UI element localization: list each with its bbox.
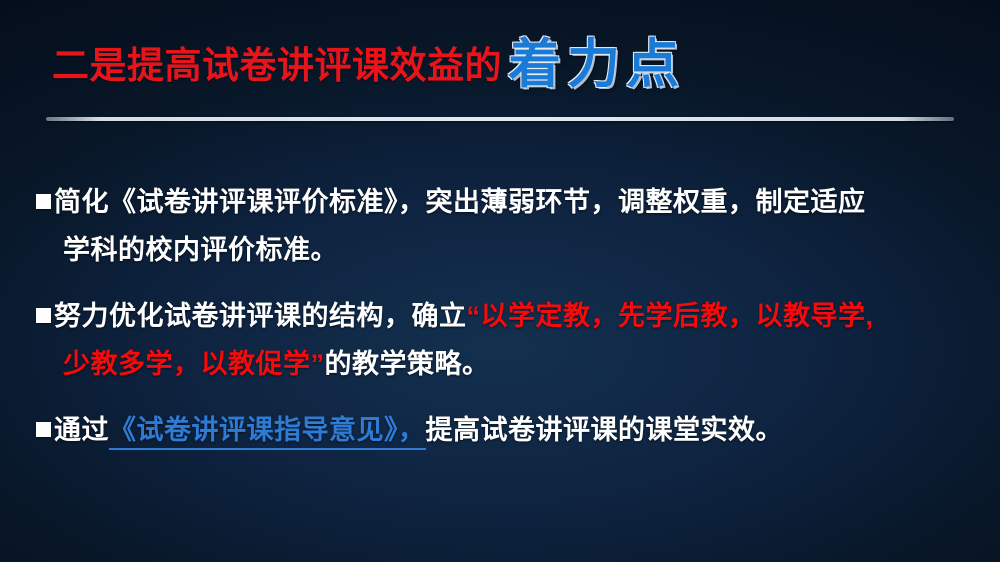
- square-bullet-icon: [36, 422, 51, 437]
- slide-body: 简化《试卷讲评课评价标准》，突出薄弱环节，调整权重，制定适应学科的校内评价标准。…: [36, 178, 981, 454]
- body-text: 简化《试卷讲评课评价标准》，突出薄弱环节，调整权重，制定适应: [54, 187, 866, 217]
- bullet-line: 学科的校内评价标准。: [36, 226, 981, 274]
- body-text: 努力优化试卷讲评课的结构，确立: [54, 301, 467, 331]
- bullet-line: 简化《试卷讲评课评价标准》，突出薄弱环节，调整权重，制定适应: [36, 178, 981, 226]
- slide-title-blue-text: 着力点: [508, 38, 685, 91]
- bullet-item: 简化《试卷讲评课评价标准》，突出薄弱环节，调整权重，制定适应学科的校内评价标准。: [36, 178, 981, 274]
- bullet-item: 通过《试卷讲评课指导意见》，提高试卷讲评课的课堂实效。: [36, 406, 981, 454]
- body-text: 通过: [54, 415, 109, 445]
- presentation-slide: 二是提高试卷讲评课效益的 着力点 简化《试卷讲评课评价标准》，突出薄弱环节，调整…: [0, 0, 1000, 562]
- document-hyperlink[interactable]: 《试卷讲评课指导意见》，: [109, 415, 426, 450]
- bullet-line: 少教多学，以教促学”的教学策略。: [36, 340, 981, 388]
- square-bullet-icon: [36, 308, 51, 323]
- bullet-item: 努力优化试卷讲评课的结构，确立“以学定教，先学后教，以教导学,少教多学，以教促学…: [36, 292, 981, 388]
- body-text: 的教学策略。: [325, 349, 490, 379]
- slide-title-red-text: 二是提高试卷讲评课效益的: [52, 47, 502, 84]
- bullet-line: 努力优化试卷讲评课的结构，确立“以学定教，先学后教，以教导学,: [36, 292, 981, 340]
- emphasis-text-red: “以学定教，先学后教，以教导学,: [467, 301, 874, 331]
- bullet-line: 通过《试卷讲评课指导意见》，提高试卷讲评课的课堂实效。: [36, 406, 981, 454]
- emphasis-text-red: 少教多学，以教促学”: [63, 349, 325, 379]
- body-text: 提高试卷讲评课的课堂实效。: [426, 415, 784, 445]
- title-divider-line: [46, 117, 954, 121]
- square-bullet-icon: [36, 194, 51, 209]
- body-text: 学科的校内评价标准。: [63, 235, 338, 265]
- slide-title: 二是提高试卷讲评课效益的 着力点: [52, 34, 685, 87]
